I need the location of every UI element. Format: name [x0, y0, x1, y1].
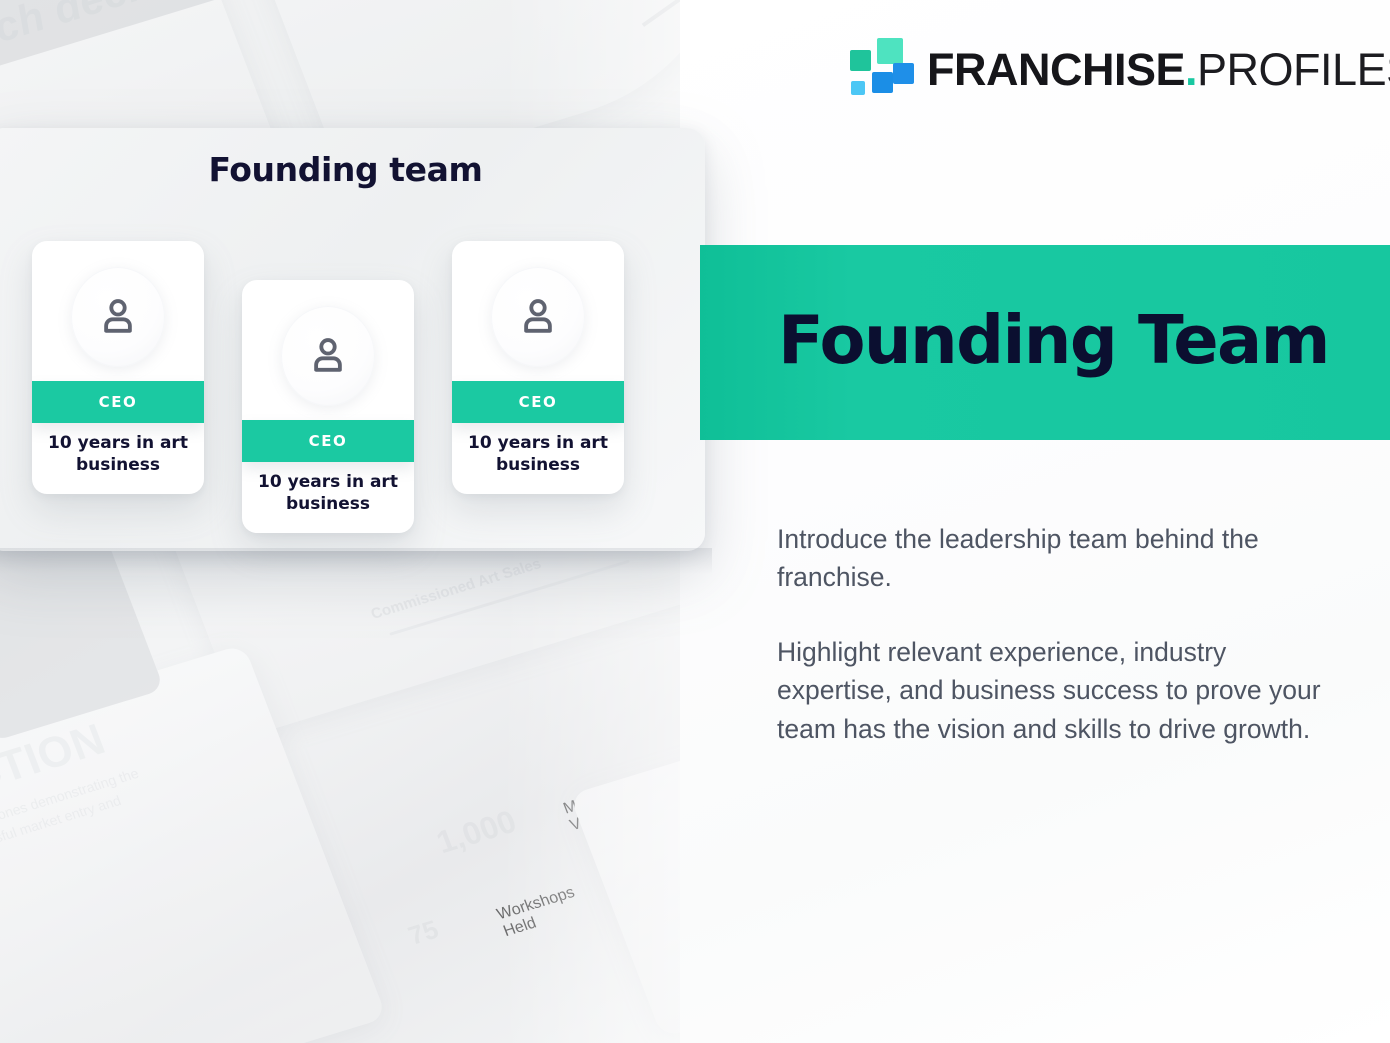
- person-icon: [515, 294, 561, 340]
- backdrop-slide-extra: [569, 689, 680, 1037]
- avatar: [452, 257, 624, 377]
- avatar-circle: [281, 306, 375, 406]
- avatar: [242, 296, 414, 416]
- slide-canvas: MARKET ...rences in urban and ...a subst…: [0, 0, 1390, 1043]
- logo-square-teal-dark: [850, 50, 871, 71]
- slide-preview-title: Founding team: [0, 150, 705, 189]
- description-paragraph-1: Introduce the leadership team behind the…: [777, 520, 1339, 597]
- logo-square-blue-mid: [872, 72, 893, 93]
- page-title: Founding Team: [778, 307, 1329, 374]
- experience-text: 10 years in art business: [32, 433, 204, 477]
- franchise-profiles-squares-logo: [848, 38, 910, 100]
- role-badge: CEO: [242, 420, 414, 462]
- backdrop-metric-label: Workshops Held: [495, 884, 584, 941]
- founding-team-slide-preview[interactable]: Founding team CEO 10 years in art busine…: [0, 128, 705, 551]
- backdrop-metric-value: 1,000: [431, 803, 521, 861]
- arrow-right-icon: ⟶: [625, 0, 680, 44]
- experience-text: 10 years in art business: [452, 433, 624, 477]
- avatar: [32, 257, 204, 377]
- section-description: Introduce the leadership team behind the…: [777, 520, 1339, 748]
- role-label: CEO: [99, 393, 138, 411]
- brand-word-profiles: PROFILES: [1197, 44, 1390, 95]
- role-badge: CEO: [452, 381, 624, 423]
- experience-text: 10 years in art business: [242, 472, 414, 516]
- logo-square-sky: [851, 81, 865, 95]
- team-member-card[interactable]: CEO 10 years in art business: [32, 241, 204, 494]
- person-icon: [95, 294, 141, 340]
- description-paragraph-2: Highlight relevant experience, industry …: [777, 633, 1339, 748]
- avatar-circle: [71, 267, 165, 367]
- avatar-circle: [491, 267, 585, 367]
- team-member-card[interactable]: CEO 10 years in art business: [452, 241, 624, 494]
- backdrop-metric-value: 75: [404, 914, 443, 951]
- brand-word-franchise: FRANCHISE: [927, 44, 1185, 95]
- person-icon: [305, 333, 351, 379]
- role-label: CEO: [519, 393, 558, 411]
- role-label: CEO: [309, 432, 348, 450]
- logo-square-blue: [893, 63, 914, 84]
- logo-square-mint: [877, 38, 903, 64]
- team-member-card[interactable]: CEO 10 years in art business: [242, 280, 414, 533]
- brand-logo[interactable]: FRANCHISE.PROFILES: [848, 38, 1390, 100]
- brand-wordmark: FRANCHISE.PROFILES: [927, 47, 1390, 92]
- brand-word-dot: .: [1185, 44, 1197, 95]
- role-badge: CEO: [32, 381, 204, 423]
